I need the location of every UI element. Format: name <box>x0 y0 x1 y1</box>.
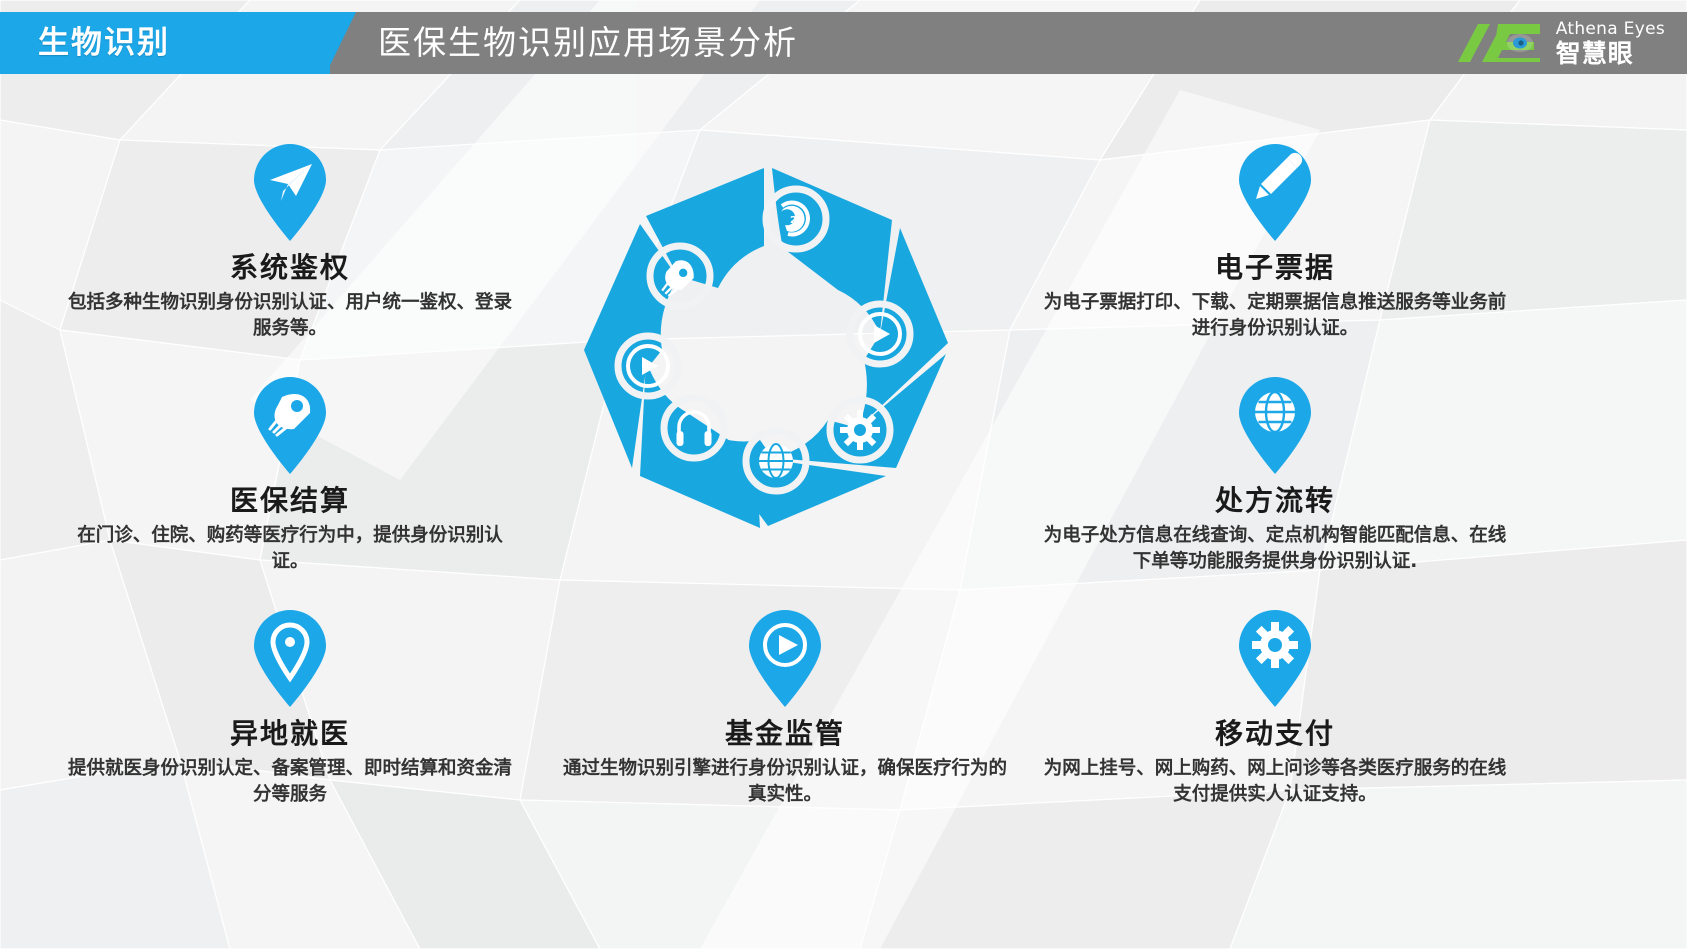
card-title: 基金监管 <box>555 712 1015 752</box>
card-title: 系统鉴权 <box>60 246 520 286</box>
card-system-auth: 系统鉴权 包括多种生物识别身份识别认证、用户统一鉴权、登录服务等。 <box>60 142 520 343</box>
header-bar: 生物识别 医保生物识别应用场景分析 <box>0 12 1687 74</box>
globe-icon <box>1235 375 1315 475</box>
card-prescription-circulation: 处方流转 为电子处方信息在线查询、定点机构智能匹配信息、在线下单等功能服务提供身… <box>1040 375 1510 576</box>
card-medical-insurance-settlement: 医保结算 在门诊、住院、购药等医疗行为中，提供身份识别认证。 <box>60 375 520 576</box>
globe-icon <box>759 444 793 478</box>
paper-plane-icon <box>250 142 330 242</box>
card-mobile-payment: 移动支付 为网上挂号、网上购药、网上问诊等各类医疗服务的在线支付提供实人认证支持… <box>1040 608 1510 809</box>
card-cross-region-treatment: 异地就医 提供就医身份识别认定、备案管理、即时结算和资金清分等服务 <box>60 608 520 809</box>
map-pin-icon <box>250 608 330 708</box>
pencil-icon <box>1235 142 1315 242</box>
gear-icon <box>1235 608 1315 708</box>
logo-text-block: Athena Eyes 智慧眼 <box>1556 21 1665 66</box>
card-title: 移动支付 <box>1040 712 1510 752</box>
card-title: 异地就医 <box>60 712 520 752</box>
play-circle-icon <box>745 608 825 708</box>
ae-monogram-icon <box>1448 20 1548 66</box>
logo-name-en: Athena Eyes <box>1556 21 1665 38</box>
card-description: 为电子处方信息在线查询、定点机构智能匹配信息、在线下单等功能服务提供身份识别认证… <box>1040 523 1510 576</box>
card-title: 电子票据 <box>1040 246 1510 286</box>
card-description: 为电子票据打印、下载、定期票据信息推送服务等业务前进行身份识别认证。 <box>1040 290 1510 343</box>
card-fund-supervision: 基金监管 通过生物识别引擎进行身份识别认证，确保医疗行为的真实性。 <box>555 608 1015 809</box>
card-description: 通过生物识别引擎进行身份识别认证，确保医疗行为的真实性。 <box>555 756 1015 809</box>
page-title: 医保生物识别应用场景分析 <box>378 12 798 74</box>
card-title: 医保结算 <box>60 479 520 519</box>
brand-logo: Athena Eyes 智慧眼 <box>1448 16 1665 70</box>
svg-text:24: 24 <box>790 215 804 226</box>
card-description: 为网上挂号、网上购药、网上问诊等各类医疗服务的在线支付提供实人认证支持。 <box>1040 756 1510 809</box>
card-electronic-bill: 电子票据 为电子票据打印、下载、定期票据信息推送服务等业务前进行身份识别认证。 <box>1040 142 1510 343</box>
header-tag-label: 生物识别 <box>38 12 170 74</box>
card-description: 提供就医身份识别认定、备案管理、即时结算和资金清分等服务 <box>60 756 520 809</box>
gear-icon <box>840 410 880 450</box>
card-description: 在门诊、住院、购药等医疗行为中，提供身份识别认证。 <box>60 523 520 576</box>
card-title: 处方流转 <box>1040 479 1510 519</box>
rocket-icon <box>250 375 330 475</box>
six-segment-pinwheel-diagram: 24 <box>528 128 998 578</box>
slide-root: 生物识别 医保生物识别应用场景分析 Athena Eyes 智慧眼 <box>0 0 1687 949</box>
card-description: 包括多种生物识别身份识别认证、用户统一鉴权、登录服务等。 <box>60 290 520 343</box>
logo-name-cn: 智慧眼 <box>1556 41 1665 66</box>
